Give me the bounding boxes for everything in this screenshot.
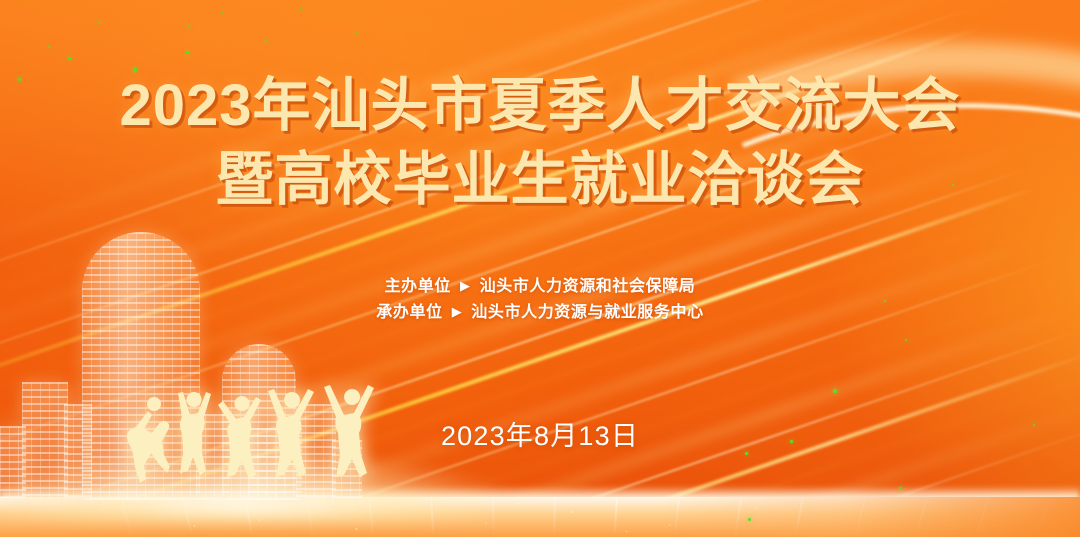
banner-content: 2023年汕头市夏季人才交流大会 暨高校毕业生就业洽谈会 主办单位▶汕头市人力资… [0,0,1080,537]
triangle-right-icon: ▶ [460,275,471,296]
organizer-label-organizer: 承办单位 [376,304,442,321]
event-banner: 2023年汕头市夏季人才交流大会 暨高校毕业生就业洽谈会 主办单位▶汕头市人力资… [0,0,1080,537]
event-date: 2023年8月13日 [0,414,1080,453]
organizer-name-host: 汕头市人力资源和社会保障局 [480,278,696,295]
event-title: 2023年汕头市夏季人才交流大会 暨高校毕业生就业洽谈会 [0,76,1080,211]
organizer-row-organizer: 承办单位▶汕头市人力资源与就业服务中心 [0,300,1080,326]
organizer-label-host: 主办单位 [385,278,451,295]
triangle-right-icon: ▶ [452,301,463,322]
organizer-name-organizer: 汕头市人力资源与就业服务中心 [471,304,703,321]
organizer-row-host: 主办单位▶汕头市人力资源和社会保障局 [0,274,1080,300]
organizer-list: 主办单位▶汕头市人力资源和社会保障局 承办单位▶汕头市人力资源与就业服务中心 [0,274,1080,326]
title-line-1: 2023年汕头市夏季人才交流大会 [0,76,1080,136]
title-line-2: 暨高校毕业生就业洽谈会 [0,150,1080,210]
